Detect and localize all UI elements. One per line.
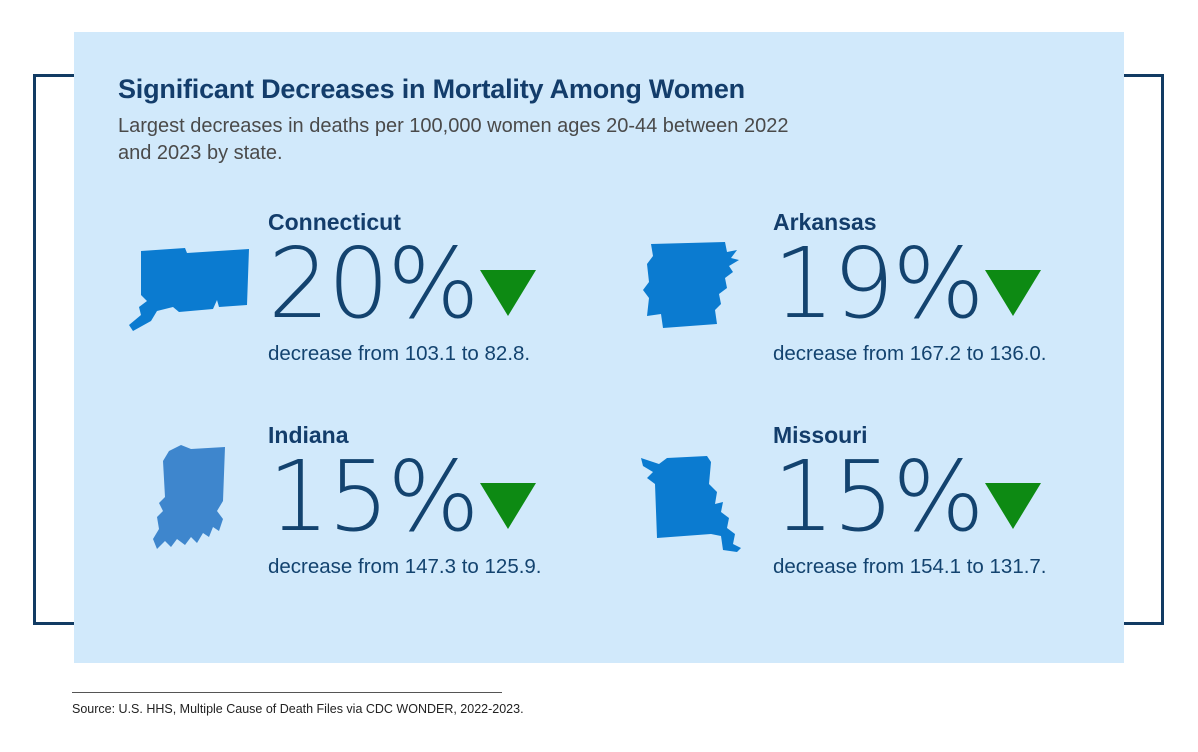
card-caption: decrease from 103.1 to 82.8.	[268, 342, 619, 366]
card-body: Arkansas 19% decrease from 167.2 to 136.…	[769, 211, 1124, 366]
percent-row: 19%	[773, 236, 1124, 332]
percent-value: 15%	[268, 452, 478, 541]
stat-card-indiana: Indiana 15% decrease from 147.3 to 125.9…	[114, 395, 619, 608]
source-note: Source: U.S. HHS, Multiple Cause of Deat…	[72, 702, 524, 716]
connecticut-map-icon	[114, 219, 264, 359]
state-cards-grid: Connecticut 20% decrease from 103.1 to 8…	[114, 182, 1124, 608]
card-body: Indiana 15% decrease from 147.3 to 125.9…	[264, 424, 619, 579]
card-caption: decrease from 154.1 to 131.7.	[773, 555, 1124, 579]
percent-value: 19%	[773, 239, 983, 328]
triangle-down-icon	[985, 483, 1041, 529]
arkansas-map-icon	[619, 219, 769, 359]
percent-row: 15%	[773, 449, 1124, 545]
percent-value: 15%	[773, 452, 983, 541]
percent-row: 20%	[268, 236, 619, 332]
percent-value: 20%	[268, 239, 478, 328]
indiana-map-icon	[114, 432, 264, 572]
card-caption: decrease from 167.2 to 136.0.	[773, 342, 1124, 366]
triangle-down-icon	[480, 270, 536, 316]
header: Significant Decreases in Mortality Among…	[118, 74, 1018, 167]
page-title: Significant Decreases in Mortality Among…	[118, 74, 1018, 105]
card-body: Connecticut 20% decrease from 103.1 to 8…	[264, 211, 619, 366]
stat-card-connecticut: Connecticut 20% decrease from 103.1 to 8…	[114, 182, 619, 395]
card-caption: decrease from 147.3 to 125.9.	[268, 555, 619, 579]
source-divider	[72, 692, 502, 693]
card-body: Missouri 15% decrease from 154.1 to 131.…	[769, 424, 1124, 579]
percent-row: 15%	[268, 449, 619, 545]
stat-card-arkansas: Arkansas 19% decrease from 167.2 to 136.…	[619, 182, 1124, 395]
page-subtitle: Largest decreases in deaths per 100,000 …	[118, 113, 818, 167]
stat-card-missouri: Missouri 15% decrease from 154.1 to 131.…	[619, 395, 1124, 608]
missouri-map-icon	[619, 432, 769, 572]
triangle-down-icon	[480, 483, 536, 529]
infographic-panel: Significant Decreases in Mortality Among…	[74, 32, 1124, 663]
triangle-down-icon	[985, 270, 1041, 316]
